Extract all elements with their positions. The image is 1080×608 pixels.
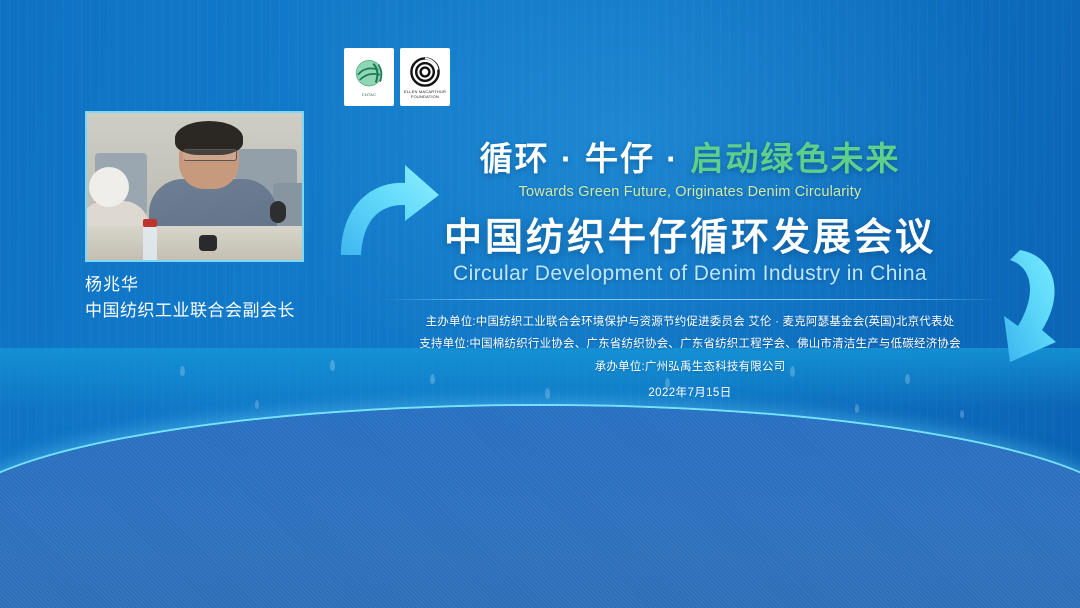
- speaker-caption: 杨兆华 中国纺织工业联合会副会长: [85, 272, 295, 323]
- host-organization: 主办单位:中国纺织工业联合会环境保护与资源节约促进委员会 艾伦 · 麦克阿瑟基金…: [380, 311, 1000, 333]
- slogan-part1: 循环 · 牛仔 ·: [480, 140, 691, 177]
- speaker-name: 杨兆华: [85, 272, 295, 298]
- event-date: 2022年7月15日: [380, 384, 1000, 400]
- speaker-role: 中国纺织工业联合会副会长: [85, 298, 295, 324]
- slogan-english: Towards Green Future, Originates Denim C…: [380, 184, 1000, 200]
- video-microphone: [270, 201, 286, 223]
- slogan-part2: 启动绿色未来: [690, 140, 900, 177]
- video-table: [87, 226, 302, 260]
- support-organizations: 支持单位:中国棉纺织行业协会、广东省纺织协会、广东省纺织工程学会、佛山市清洁生产…: [380, 333, 1000, 355]
- video-frame: [87, 113, 302, 260]
- presentation-slide: CNTAC ELLEN MACARTHUR FOUNDATION: [0, 0, 1080, 608]
- video-water-bottle: [143, 225, 157, 262]
- organizing-company: 承办单位:广州弘禹生态科技有限公司: [380, 356, 1000, 378]
- ellen-macarthur-foundation-logo: ELLEN MACARTHUR FOUNDATION: [400, 48, 450, 106]
- denim-texture-curve: [0, 406, 1080, 608]
- cnTAC-logo: CNTAC: [344, 48, 394, 106]
- ellen-macarthur-foundation-logo-caption: ELLEN MACARTHUR FOUNDATION: [402, 90, 448, 99]
- video-bottle-cap: [143, 219, 157, 227]
- video-wristwatch: [199, 235, 217, 251]
- conference-title-en: Circular Development of Denim Industry i…: [380, 262, 1000, 286]
- conference-title-cn: 中国纺织牛仔循环发展会议: [380, 206, 1000, 261]
- slogan-line: 循环 · 牛仔 · 启动绿色未来: [380, 132, 1000, 180]
- organizer-lines: 主办单位:中国纺织工业联合会环境保护与资源节约促进委员会 艾伦 · 麦克阿瑟基金…: [380, 311, 1000, 400]
- title-divider: [380, 299, 1000, 300]
- video-secondary-person-head: [89, 167, 129, 207]
- logo-group: CNTAC ELLEN MACARTHUR FOUNDATION: [344, 48, 450, 106]
- video-speaker-glasses: [183, 149, 237, 161]
- speaker-video-tile[interactable]: [85, 111, 304, 262]
- cnTAC-logo-caption: CNTAC: [362, 93, 376, 98]
- title-block: 循环 · 牛仔 · 启动绿色未来 Towards Green Future, O…: [380, 132, 1000, 400]
